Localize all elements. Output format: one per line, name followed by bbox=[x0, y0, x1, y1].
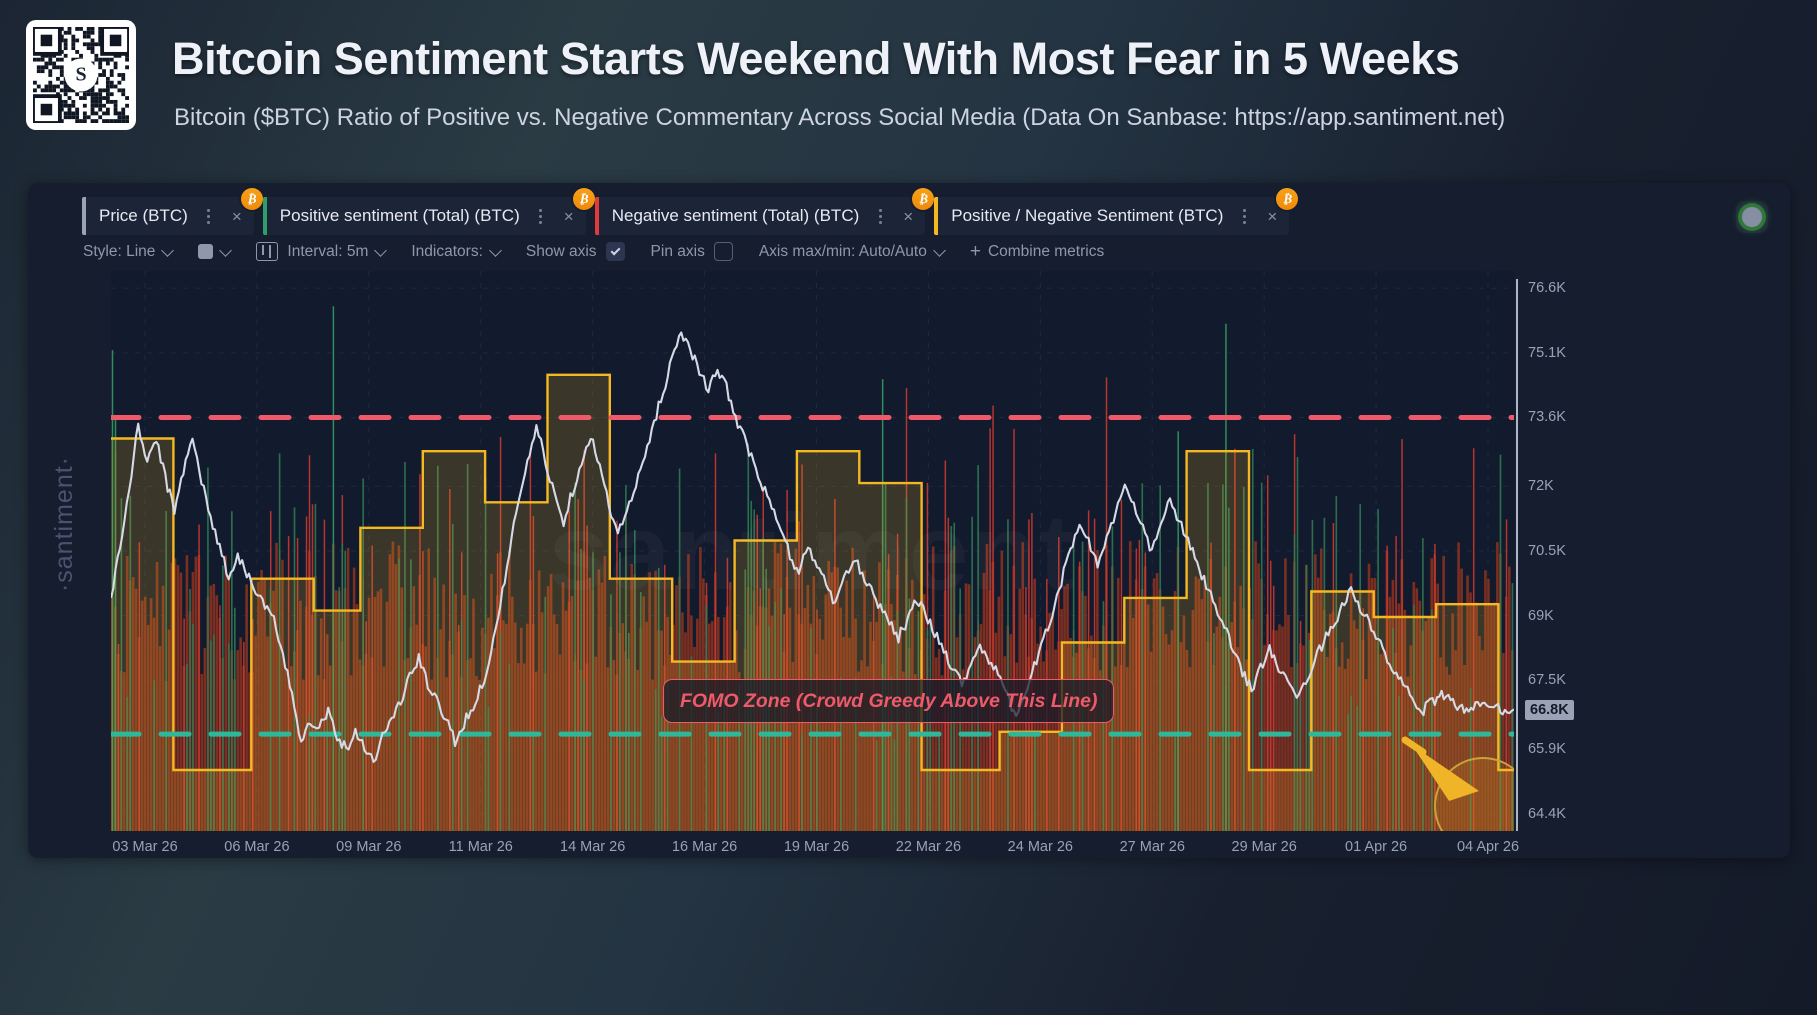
metric-chip-label: Positive sentiment (Total) (BTC) bbox=[267, 206, 532, 226]
metric-chip-0[interactable]: Price (BTC)×₿ bbox=[82, 197, 254, 235]
chevron-down-icon bbox=[162, 244, 175, 257]
color-swatch-icon bbox=[198, 244, 213, 259]
close-icon[interactable]: × bbox=[226, 208, 248, 225]
y-axis-tick: 75.1K bbox=[1528, 345, 1566, 361]
close-icon[interactable]: × bbox=[558, 208, 580, 225]
chart-panel: Price (BTC)×₿Positive sentiment (Total) … bbox=[28, 183, 1790, 858]
x-axis-tick: 01 Apr 26 bbox=[1345, 839, 1407, 855]
y-axis-tick: 76.6K bbox=[1528, 280, 1566, 296]
more-options-icon[interactable] bbox=[1235, 204, 1253, 228]
close-icon[interactable]: × bbox=[1261, 208, 1283, 225]
chevron-down-icon bbox=[489, 244, 502, 257]
interval-label: Interval: 5m bbox=[287, 243, 368, 261]
more-options-icon[interactable] bbox=[200, 204, 218, 228]
qr-code-icon[interactable]: S bbox=[26, 20, 136, 130]
x-axis-tick: 11 Mar 26 bbox=[449, 839, 513, 855]
indicators-label: Indicators: bbox=[411, 243, 483, 261]
y-axis-tick: 70.5K bbox=[1528, 543, 1566, 559]
y-axis-tick: 67.5K bbox=[1528, 672, 1566, 688]
page-title: Bitcoin Sentiment Starts Weekend With Mo… bbox=[172, 33, 1460, 85]
fomo-zone-annotation: FOMO Zone (Crowd Greedy Above This Line) bbox=[663, 679, 1114, 723]
page-subtitle: Bitcoin ($BTC) Ratio of Positive vs. Neg… bbox=[174, 104, 1505, 132]
more-options-icon[interactable] bbox=[532, 204, 550, 228]
style-label: Style: Line bbox=[83, 243, 155, 261]
pin-axis-label: Pin axis bbox=[651, 243, 705, 261]
x-axis-tick: 16 Mar 26 bbox=[672, 839, 737, 855]
plus-icon: + bbox=[970, 242, 981, 261]
metric-chip-3[interactable]: Positive / Negative Sentiment (BTC)×₿ bbox=[934, 197, 1289, 235]
x-axis-tick: 09 Mar 26 bbox=[336, 839, 401, 855]
santiment-logo: S bbox=[65, 59, 98, 92]
side-watermark: ·santiment· bbox=[50, 456, 79, 592]
indicators-dropdown[interactable]: Indicators: bbox=[411, 243, 500, 261]
screenshot-root: S Bitcoin Sentiment Starts Weekend With … bbox=[0, 0, 1817, 1015]
x-axis-tick: 04 Apr 26 bbox=[1457, 839, 1519, 855]
x-axis-tick: 06 Mar 26 bbox=[224, 839, 289, 855]
y-axis-tick: 73.6K bbox=[1528, 409, 1566, 425]
chart-svg bbox=[111, 271, 1514, 831]
x-axis-tick: 03 Mar 26 bbox=[112, 839, 177, 855]
show-axis-checkbox[interactable] bbox=[606, 242, 625, 261]
x-axis-tick: 22 Mar 26 bbox=[896, 839, 961, 855]
pin-axis-checkbox[interactable] bbox=[714, 242, 733, 261]
show-axis-toggle[interactable]: Show axis bbox=[526, 242, 625, 261]
metric-chip-label: Price (BTC) bbox=[86, 206, 200, 226]
axis-minmax-dropdown[interactable]: Axis max/min: Auto/Auto bbox=[759, 243, 944, 261]
plot-canvas[interactable]: santiment bbox=[111, 271, 1514, 831]
bitcoin-badge-icon: ₿ bbox=[1276, 188, 1298, 210]
metric-chip-label: Positive / Negative Sentiment (BTC) bbox=[938, 206, 1235, 226]
bitcoin-badge-icon: ₿ bbox=[573, 188, 595, 210]
interval-dropdown[interactable]: Interval: 5m bbox=[256, 242, 385, 261]
metric-chip-label: Negative sentiment (Total) (BTC) bbox=[599, 206, 872, 226]
x-axis[interactable]: 03 Mar 2606 Mar 2609 Mar 2611 Mar 2614 M… bbox=[111, 833, 1514, 858]
color-dropdown[interactable] bbox=[198, 244, 230, 259]
y-axis-current-value: 66.8K bbox=[1525, 700, 1574, 720]
y-axis-tick: 64.4K bbox=[1528, 806, 1566, 822]
metric-chip-list: Price (BTC)×₿Positive sentiment (Total) … bbox=[82, 197, 1298, 235]
bitcoin-badge-icon: ₿ bbox=[241, 188, 263, 210]
chevron-down-icon bbox=[933, 244, 946, 257]
x-axis-tick: 14 Mar 26 bbox=[560, 839, 625, 855]
combine-metrics-label: Combine metrics bbox=[988, 243, 1104, 261]
pin-axis-toggle[interactable]: Pin axis bbox=[651, 242, 733, 261]
metric-chip-1[interactable]: Positive sentiment (Total) (BTC)×₿ bbox=[263, 197, 586, 235]
show-axis-label: Show axis bbox=[526, 243, 597, 261]
check-icon bbox=[610, 245, 620, 255]
more-options-icon[interactable] bbox=[871, 204, 889, 228]
candlestick-icon bbox=[256, 242, 278, 261]
y-axis-tick: 69K bbox=[1528, 608, 1554, 624]
y-axis-tick: 72K bbox=[1528, 478, 1554, 494]
chevron-down-icon bbox=[375, 244, 388, 257]
y-axis-line bbox=[1516, 279, 1518, 831]
x-axis-tick: 19 Mar 26 bbox=[784, 839, 849, 855]
x-axis-tick: 24 Mar 26 bbox=[1008, 839, 1073, 855]
chevron-down-icon bbox=[220, 244, 233, 257]
chart-settings-toolbar: Style: Line Interval: 5m Indicators: Sho… bbox=[83, 242, 1130, 261]
bitcoin-badge-icon: ₿ bbox=[912, 188, 934, 210]
style-dropdown[interactable]: Style: Line bbox=[83, 243, 172, 261]
y-axis[interactable]: 76.6K75.1K73.6K72K70.5K69K67.5K65.9K64.4… bbox=[1516, 271, 1636, 831]
record-indicator-icon bbox=[1742, 207, 1762, 227]
x-axis-tick: 29 Mar 26 bbox=[1232, 839, 1297, 855]
metric-chip-2[interactable]: Negative sentiment (Total) (BTC)×₿ bbox=[595, 197, 926, 235]
close-icon[interactable]: × bbox=[897, 208, 919, 225]
combine-metrics-button[interactable]: + Combine metrics bbox=[970, 242, 1104, 261]
axis-minmax-label: Axis max/min: Auto/Auto bbox=[759, 243, 927, 261]
record-button[interactable] bbox=[1736, 201, 1768, 233]
y-axis-tick: 65.9K bbox=[1528, 741, 1566, 757]
page-header: S Bitcoin Sentiment Starts Weekend With … bbox=[0, 0, 1817, 185]
chart-area: ·santiment· santiment 76.6K75.1K73.6K72K… bbox=[28, 271, 1790, 858]
x-axis-tick: 27 Mar 26 bbox=[1120, 839, 1185, 855]
